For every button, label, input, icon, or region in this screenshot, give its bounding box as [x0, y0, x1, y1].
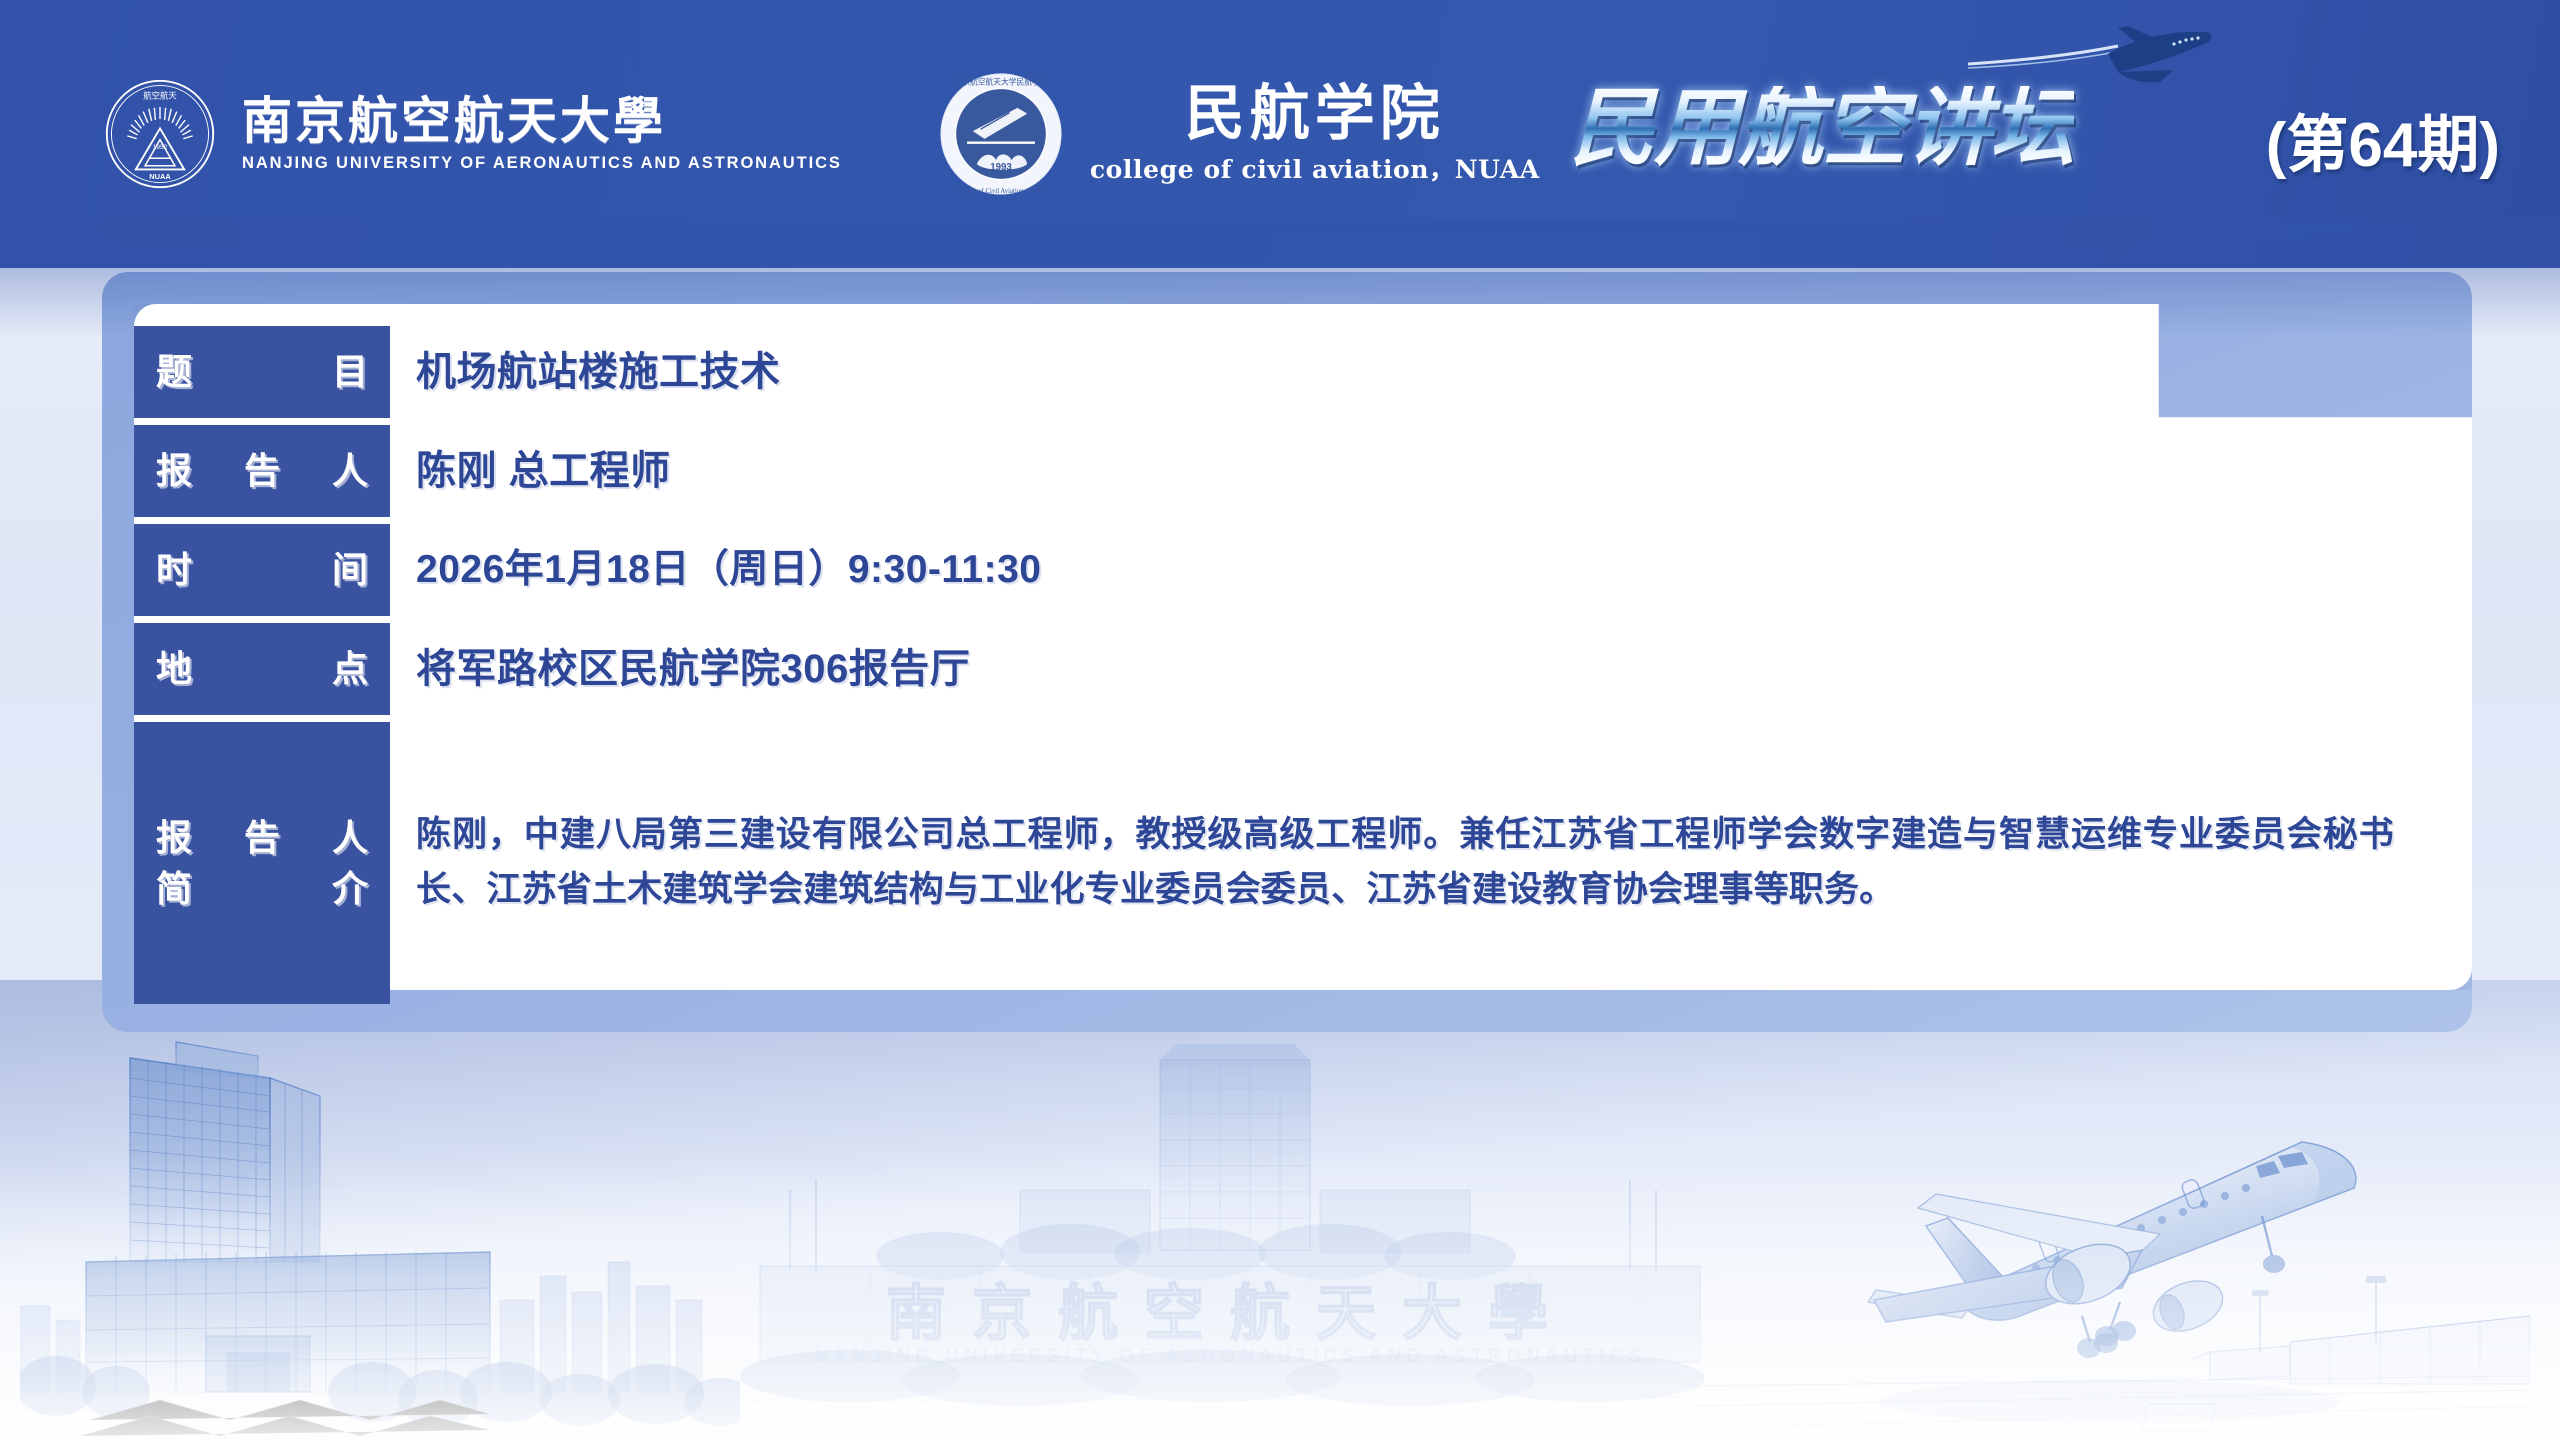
cca-seal-icon: 1993 南京航空航天大学民航学院 College of Civil Aviat…	[938, 71, 1064, 197]
row-label-time: 时 间	[134, 524, 390, 616]
forum-title-group: 民用航空讲坛 (第64期)	[1560, 24, 2500, 214]
row-label-speaker: 报 告 人	[134, 425, 390, 517]
row-label-place: 地 点	[134, 623, 390, 715]
table-row-speaker: 报 告 人 陈刚 总工程师	[134, 425, 2424, 517]
table-row-bio: 报 告 人 简 介 陈刚，中建八局第三建设有限公司总工程师，教授级高级工程师。兼…	[134, 722, 2424, 1004]
row-value-title: 机场航站楼施工技术	[390, 326, 2424, 418]
row-label-bio-l2-char2: 介	[332, 863, 368, 914]
svg-text:南京航空航天大学民航学院: 南京航空航天大学民航学院	[954, 77, 1047, 87]
row-label-bio-l1-char1: 报	[156, 812, 192, 863]
cca-logo-group: 1993 南京航空航天大学民航学院 College of Civil Aviat…	[938, 71, 1540, 197]
row-label-bio: 报 告 人 简 介	[134, 722, 390, 1004]
table-row-place: 地 点 将军路校区民航学院306报告厅	[134, 623, 2424, 715]
campus-building-illustration	[20, 1000, 740, 1440]
row-label-bio-l1-char3: 人	[332, 812, 368, 863]
row-value-bio: 陈刚，中建八局第三建设有限公司总工程师，教授级高级工程师。兼任江苏省工程师学会数…	[390, 722, 2424, 1004]
poster-header: 航空航天 NUAA 1952 南京航空航天大學 NANJING UNIVERSI…	[0, 0, 2560, 268]
footer-illustration-band: 南京航空航天大學 NANJING UNIVERSITY OF AERONAUTI…	[0, 980, 2560, 1440]
airplane-takeoff-illustration	[1690, 1084, 2530, 1434]
poster-root: 南京航空航天大學 NANJING UNIVERSITY OF AERONAUTI…	[0, 0, 2560, 1440]
nuaa-seal-abbr: NUAA	[149, 172, 171, 181]
row-label-title-char2: 目	[332, 346, 368, 397]
nuaa-seal-icon: 航空航天 NUAA 1952	[104, 78, 216, 190]
table-row-time: 时 间 2026年1月18日（周日）9:30-11:30	[134, 524, 2424, 616]
nuaa-name-en: NANJING UNIVERSITY OF AERONAUTICS AND AS…	[242, 154, 842, 173]
row-value-place: 将军路校区民航学院306报告厅	[390, 623, 2424, 715]
row-label-bio-l1-char2: 告	[244, 812, 280, 863]
cca-wordmark: 民航学院 college of civil aviation，NUAA	[1090, 83, 1540, 186]
campus-gate-illustration: 南京航空航天大學 NANJING UNIVERSITY OF AERONAUTI…	[690, 1040, 1770, 1440]
row-label-speaker-char1: 报	[156, 445, 192, 496]
svg-text:航空航天: 航空航天	[143, 91, 177, 101]
nuaa-seal-year: 1952	[153, 144, 168, 151]
row-label-place-char1: 地	[156, 643, 192, 694]
nuaa-logo-group: 航空航天 NUAA 1952 南京航空航天大學 NANJING UNIVERSI…	[104, 78, 842, 190]
row-value-time: 2026年1月18日（周日）9:30-11:30	[390, 524, 2424, 616]
table-row-title: 题 目 机场航站楼施工技术	[134, 326, 2424, 418]
info-table: 题 目 机场航站楼施工技术 报 告 人 陈刚 总工程师 时 间	[134, 326, 2424, 1004]
cca-name-en: college of civil aviation，NUAA	[1090, 150, 1540, 186]
gate-engraved-text: 南京航空航天大學	[886, 1279, 1574, 1349]
row-value-speaker: 陈刚 总工程师	[390, 425, 2424, 517]
cca-seal-year: 1993	[990, 162, 1012, 173]
cca-name-cn: 民航学院	[1185, 83, 1445, 146]
row-label-speaker-char3: 人	[332, 445, 368, 496]
forum-title-text: 民用航空讲坛	[1570, 86, 2074, 171]
forum-issue-number: (第64期)	[2266, 94, 2500, 184]
row-label-title: 题 目	[134, 326, 390, 418]
row-label-place-char2: 点	[332, 643, 368, 694]
row-label-speaker-char2: 告	[244, 445, 280, 496]
row-label-time-char2: 间	[332, 544, 368, 595]
nuaa-wordmark: 南京航空航天大學 NANJING UNIVERSITY OF AERONAUTI…	[242, 96, 842, 173]
speaker-bio-text: 陈刚，中建八局第三建设有限公司总工程师，教授级高级工程师。兼任江苏省工程师学会数…	[416, 808, 2394, 917]
nuaa-name-cn: 南京航空航天大學	[242, 96, 842, 146]
row-label-time-char1: 时	[156, 544, 192, 595]
svg-text:College of Civil Aviation, NUA: College of Civil Aviation, NUAA	[955, 188, 1046, 195]
row-label-title-char1: 题	[156, 346, 192, 397]
row-label-bio-l2-char1: 简	[156, 863, 192, 914]
